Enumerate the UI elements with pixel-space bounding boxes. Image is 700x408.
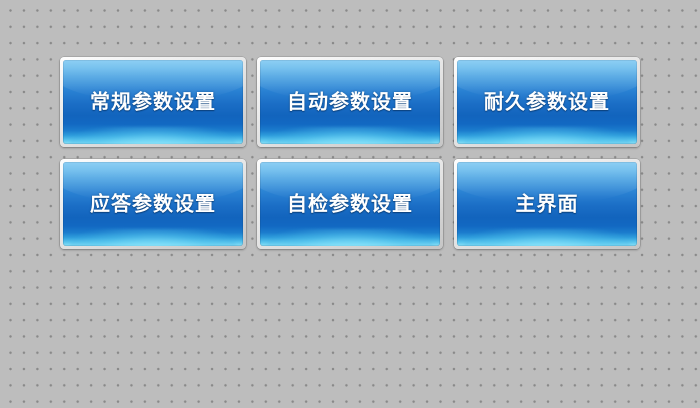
button-response-parameter-settings[interactable]: 应答参数设置 — [60, 159, 246, 249]
bottom-glow — [70, 229, 236, 246]
gloss-highlight — [63, 60, 243, 100]
button-face — [63, 162, 243, 246]
button-main-interface[interactable]: 主界面 — [454, 159, 640, 249]
bottom-glow — [267, 127, 433, 144]
button-face — [457, 60, 637, 144]
bottom-glow — [464, 229, 630, 246]
button-endurance-parameter-settings[interactable]: 耐久参数设置 — [454, 57, 640, 147]
button-selfcheck-parameter-settings[interactable]: 自检参数设置 — [257, 159, 443, 249]
gloss-highlight — [457, 162, 637, 202]
button-general-parameter-settings[interactable]: 常规参数设置 — [60, 57, 246, 147]
button-automatic-parameter-settings[interactable]: 自动参数设置 — [257, 57, 443, 147]
bottom-glow — [70, 127, 236, 144]
button-face — [457, 162, 637, 246]
gloss-highlight — [63, 162, 243, 202]
button-face — [260, 60, 440, 144]
button-face — [63, 60, 243, 144]
hmi-panel-background: 常规参数设置 自动参数设置 耐久参数设置 应答参数设置 — [0, 0, 700, 408]
menu-button-grid: 常规参数设置 自动参数设置 耐久参数设置 应答参数设置 — [60, 57, 640, 249]
gloss-highlight — [457, 60, 637, 100]
bottom-glow — [267, 229, 433, 246]
gloss-highlight — [260, 60, 440, 100]
button-face — [260, 162, 440, 246]
bottom-glow — [464, 127, 630, 144]
gloss-highlight — [260, 162, 440, 202]
